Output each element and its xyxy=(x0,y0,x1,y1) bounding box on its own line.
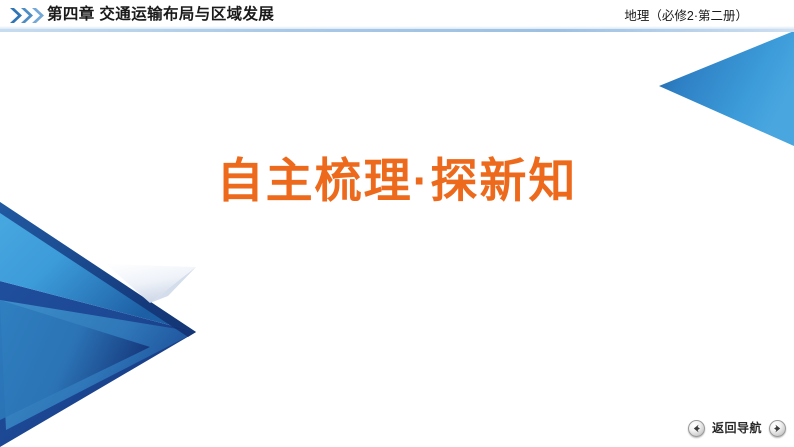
subject-label: 地理（必修2·第二册） xyxy=(624,6,748,26)
return-navigation-label[interactable]: 返回导航 xyxy=(712,420,762,437)
slide-header: 第四章 交通运输布局与区域发展 地理（必修2·第二册） xyxy=(0,0,794,32)
decorative-background xyxy=(0,0,794,447)
triple-chevron-right-icon xyxy=(9,7,49,24)
arrow-left-icon[interactable] xyxy=(688,420,705,437)
header-divider xyxy=(0,29,794,32)
top-right-triangle-decoration xyxy=(659,31,794,146)
return-navigation: 返回导航 xyxy=(688,415,786,441)
bottom-left-arrow-decoration xyxy=(0,202,196,447)
chapter-title: 第四章 交通运输布局与区域发展 xyxy=(47,4,274,26)
arrow-right-icon[interactable] xyxy=(769,420,786,437)
page-title: 自主梳理·探新知 xyxy=(0,150,794,212)
slide-canvas: 第四章 交通运输布局与区域发展 地理（必修2·第二册） 自主梳理·探新知 返回导… xyxy=(0,0,794,447)
